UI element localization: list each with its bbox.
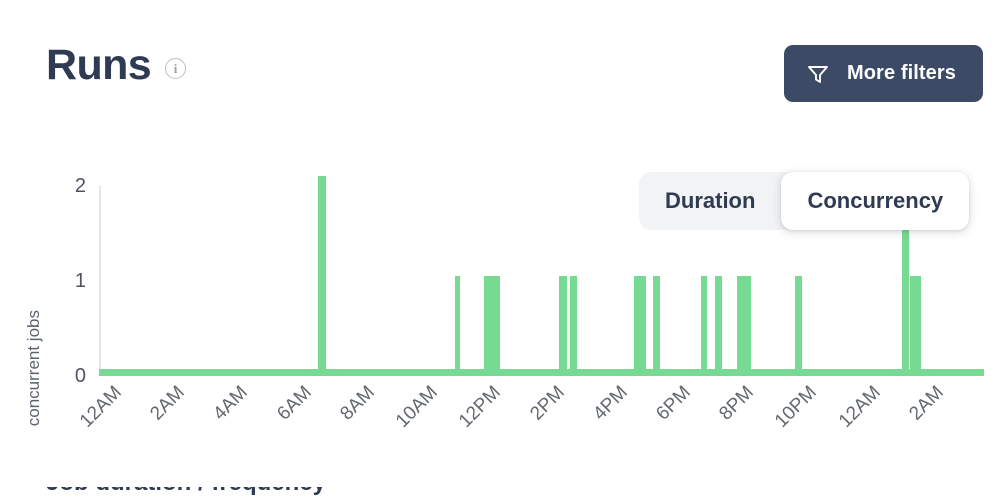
- x-tick-9: 6PM: [652, 382, 695, 425]
- runs-page: Runs i More filters concurrent jobs 2 1 …: [0, 0, 998, 498]
- x-tick-13: 2AM: [905, 382, 948, 425]
- tab-concurrency[interactable]: Concurrency: [781, 172, 969, 230]
- funnel-icon: [806, 62, 830, 86]
- bar-12[interactable]: [910, 276, 921, 376]
- page-header: Runs i More filters: [0, 0, 998, 130]
- bar-8[interactable]: [715, 276, 722, 376]
- next-section-clipped: Job duration / frequency: [0, 487, 998, 498]
- bar-5[interactable]: [634, 276, 646, 376]
- x-tick-5: 10AM: [392, 382, 443, 433]
- next-section-title: Job duration / frequency: [46, 487, 326, 497]
- bar-10[interactable]: [795, 276, 802, 376]
- y-tick-1: 1: [58, 271, 86, 291]
- info-icon[interactable]: i: [165, 58, 186, 79]
- more-filters-button[interactable]: More filters: [784, 45, 983, 102]
- more-filters-label: More filters: [847, 62, 956, 85]
- x-tick-11: 10PM: [771, 382, 822, 433]
- x-axis-ticks: 12AM2AM4AM6AM8AM10AM12PM2PM4PM6PM8PM10PM…: [0, 382, 998, 492]
- y-tick-2: 2: [58, 176, 86, 196]
- x-tick-2: 4AM: [210, 382, 253, 425]
- bar-2[interactable]: [484, 276, 500, 376]
- bar-6[interactable]: [653, 276, 660, 376]
- bar-4[interactable]: [570, 276, 577, 376]
- x-tick-7: 2PM: [526, 382, 569, 425]
- bar-3[interactable]: [559, 276, 567, 376]
- x-tick-0: 12AM: [76, 382, 127, 433]
- bar-11[interactable]: [902, 216, 909, 376]
- x-tick-12: 12AM: [834, 382, 885, 433]
- bar-7[interactable]: [701, 276, 707, 376]
- bar-0[interactable]: [318, 176, 326, 376]
- x-tick-3: 6AM: [273, 382, 316, 425]
- bar-9[interactable]: [737, 276, 751, 376]
- x-tick-4: 8AM: [336, 382, 379, 425]
- bar-1[interactable]: [455, 276, 460, 376]
- x-tick-10: 8PM: [716, 382, 759, 425]
- page-title: Runs: [46, 44, 151, 87]
- tab-duration[interactable]: Duration: [639, 172, 781, 230]
- x-tick-6: 12PM: [455, 382, 506, 433]
- page-title-group: Runs i: [46, 44, 186, 87]
- x-tick-8: 4PM: [589, 382, 632, 425]
- x-tick-1: 2AM: [147, 382, 190, 425]
- chart-mode-toggle[interactable]: Duration Concurrency: [639, 172, 969, 230]
